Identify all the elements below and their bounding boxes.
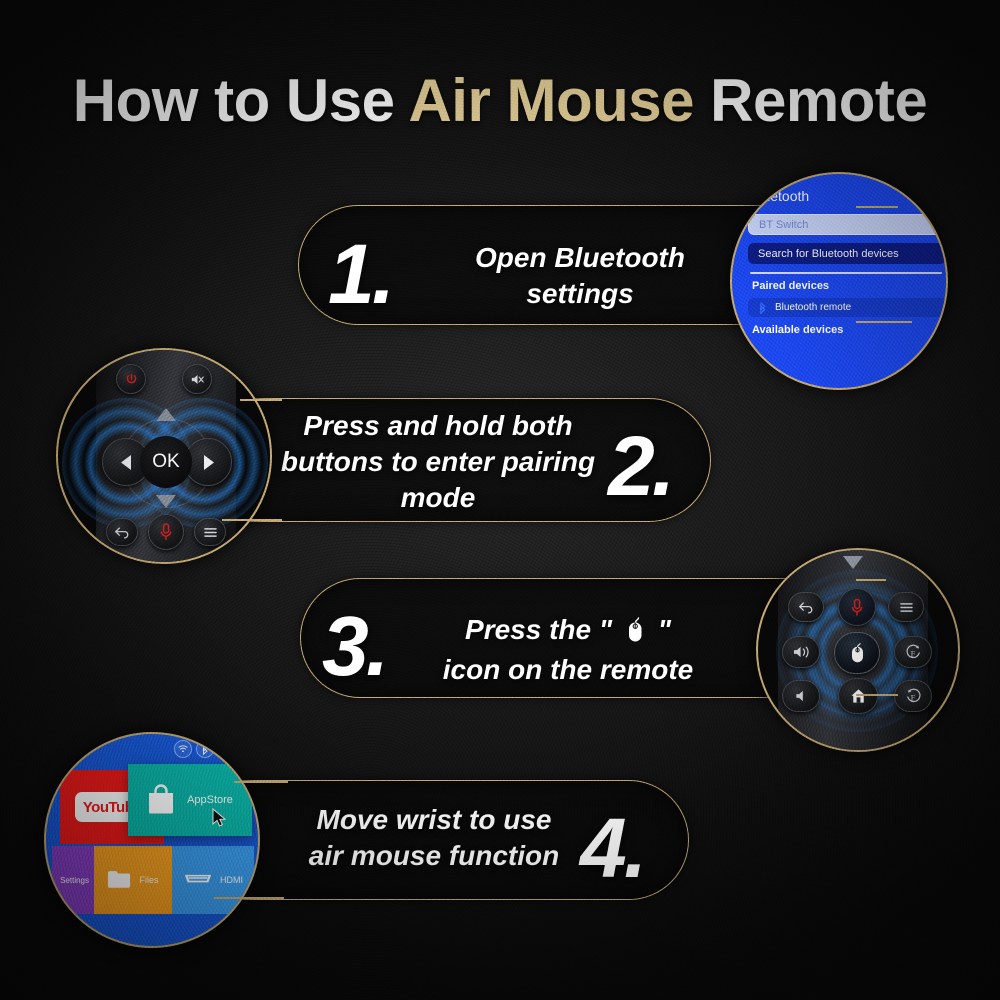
rotate-right-button[interactable]: F: [894, 680, 932, 712]
step-2-connector-top: [240, 399, 282, 401]
tile-appstore[interactable]: AppStore: [128, 764, 252, 836]
step-1-caption-line-1: Open Bluetooth: [430, 240, 730, 276]
step-1-caption-line-2: settings: [430, 276, 730, 312]
menu-icon: [203, 527, 218, 538]
title-part-1: How to Use: [73, 67, 409, 134]
step-3-number: 3.: [322, 604, 386, 688]
rotate-right-icon: F: [905, 688, 922, 705]
bluetooth-panel: Bluetooth BT Switch Search for Bluetooth…: [732, 174, 946, 388]
mouse-icon: [850, 643, 865, 663]
arrow-down-icon: [153, 492, 179, 510]
step-3-caption: Press the " " icon on the remote: [418, 612, 718, 688]
mouse-cursor: [212, 808, 228, 833]
step-4-connector-top: [234, 781, 288, 783]
step-2-caption-line-2: buttons to enter pairing: [270, 444, 606, 480]
mic-button[interactable]: [148, 514, 184, 550]
mouse-icon: [625, 616, 645, 652]
home-button[interactable]: [838, 678, 878, 714]
mouse-button[interactable]: [834, 632, 880, 674]
menu-button[interactable]: [888, 592, 924, 622]
paired-device-row[interactable]: Bluetooth remote: [748, 298, 948, 317]
tile-hdmi[interactable]: HDMI: [172, 846, 254, 914]
step-2-connector-bottom: [222, 519, 282, 521]
power-icon: [125, 373, 138, 386]
tile-appstore-label: AppStore: [187, 794, 233, 806]
bluetooth-panel-title: Bluetooth: [750, 188, 934, 204]
dpad-down[interactable]: [840, 554, 866, 575]
step-3-caption-line-1: Press the " ": [418, 612, 718, 652]
menu-icon: [899, 602, 914, 613]
dpad-down[interactable]: [153, 492, 179, 515]
tile-files-label: Files: [139, 875, 158, 885]
menu-button[interactable]: [194, 518, 226, 546]
step-2-caption-line-1: Press and hold both: [270, 408, 606, 444]
step-4-caption-line-2: air mouse function: [290, 838, 578, 874]
paired-devices-header: Paired devices: [752, 280, 934, 292]
tv-home-screen: YouTube Settings Files HDMI: [44, 732, 260, 948]
volume-down-icon: [794, 689, 808, 703]
volume-up-icon: [792, 645, 811, 659]
step-2-caption-line-3: mode: [270, 480, 606, 516]
infographic-canvas: How to Use Air Mouse Remote 1. Open Blue…: [0, 0, 1000, 1000]
step-2-number: 2.: [608, 424, 672, 508]
mic-icon: [160, 523, 172, 541]
step-1-connector-top: [856, 206, 898, 208]
back-button[interactable]: [788, 592, 824, 622]
step-3-caption-suffix: ": [658, 614, 671, 645]
rotate-left-button[interactable]: F: [894, 636, 932, 668]
folder-icon: [107, 869, 131, 891]
tile-files[interactable]: Files: [94, 846, 172, 914]
ok-button[interactable]: OK: [140, 436, 192, 488]
paired-device-label: Bluetooth remote: [775, 302, 851, 313]
title-highlight: Air Mouse: [408, 67, 694, 134]
hdmi-icon: [183, 872, 213, 889]
remote-dpad-closeup: OK: [56, 348, 272, 564]
power-button[interactable]: [116, 364, 146, 394]
bluetooth-icon: [196, 740, 214, 758]
back-icon: [798, 601, 814, 614]
available-devices-header: Available devices: [752, 324, 934, 336]
page-title: How to Use Air Mouse Remote: [0, 66, 1000, 135]
rotate-left-icon: F: [905, 644, 922, 661]
mic-button[interactable]: [838, 588, 876, 626]
step-3-caption-prefix: Press the ": [465, 614, 612, 645]
mute-button[interactable]: [182, 364, 212, 394]
back-icon: [114, 526, 130, 539]
arrow-right-icon: [201, 454, 216, 471]
volume-down-button[interactable]: [782, 680, 820, 712]
tile-settings[interactable]: Settings: [52, 846, 94, 914]
svg-text:F: F: [910, 648, 915, 658]
volume-up-button[interactable]: [782, 636, 820, 668]
bluetooth-divider: [750, 272, 942, 274]
step-2-caption: Press and hold both buttons to enter pai…: [270, 408, 606, 515]
mic-icon: [851, 598, 863, 617]
tile-settings-label: Settings: [60, 876, 89, 885]
step-1-connector-bottom: [856, 321, 912, 323]
back-button[interactable]: [106, 518, 138, 546]
home-icon: [850, 688, 867, 704]
shopping-bag-icon: [147, 784, 175, 816]
step-4-number: 4.: [580, 806, 644, 890]
step-4-connector-bottom: [214, 897, 284, 899]
arrow-left-icon: [119, 454, 134, 471]
arrow-up-icon: [153, 406, 179, 424]
step-4-caption-line-1: Move wrist to use: [290, 802, 578, 838]
step-1-caption: Open Bluetooth settings: [430, 240, 730, 312]
mute-icon: [190, 373, 205, 386]
svg-text:F: F: [910, 692, 915, 702]
tile-hdmi-label: HDMI: [220, 875, 243, 885]
bt-search-label: Search for Bluetooth devices: [758, 248, 899, 260]
wifi-icon: [174, 740, 192, 758]
bt-search-row[interactable]: Search for Bluetooth devices: [748, 243, 946, 264]
step-1-number: 1.: [328, 232, 392, 316]
bluetooth-settings-screenshot: Bluetooth BT Switch Search for Bluetooth…: [730, 172, 948, 390]
step-4-caption: Move wrist to use air mouse function: [290, 802, 578, 874]
dpad-up[interactable]: [153, 406, 179, 429]
arrow-down-icon: [840, 554, 866, 570]
step-3-connector-top: [856, 579, 886, 581]
step-3-connector-bottom: [856, 694, 898, 696]
bt-switch-row[interactable]: BT Switch: [748, 214, 946, 235]
step-3-caption-line-2: icon on the remote: [418, 652, 718, 688]
ok-button-label: OK: [152, 451, 179, 473]
bt-switch-label: BT Switch: [759, 219, 808, 231]
title-part-2: Remote: [694, 67, 927, 134]
bluetooth-icon: [758, 302, 767, 314]
